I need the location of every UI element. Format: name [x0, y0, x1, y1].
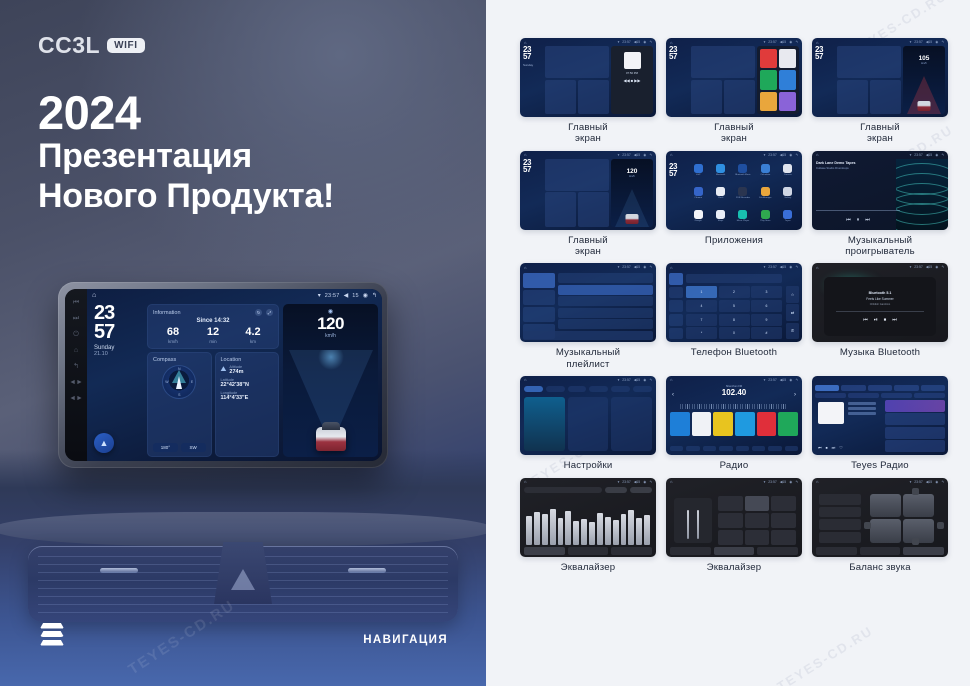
- thumb-clock-minutes: 57: [669, 53, 689, 60]
- thumbnail-caption: Настройки: [564, 460, 613, 472]
- home-icon[interactable]: ⌂: [92, 292, 96, 299]
- thumbnail-caption: Эквалайзер: [707, 562, 762, 574]
- clock-minutes: 57: [91, 323, 143, 342]
- thumb-car-icon: [918, 101, 931, 111]
- album-art: [818, 402, 844, 424]
- compass-needle-icon: [176, 376, 182, 389]
- dial-key[interactable]: 7: [686, 314, 717, 326]
- thumb-clock: 23 57: [523, 159, 543, 227]
- caption-line-1: Баланс звука: [849, 562, 911, 573]
- volume-level: 15: [352, 293, 359, 299]
- power-key[interactable]: ⏻: [73, 331, 79, 338]
- app-label: Maps: [718, 220, 723, 222]
- equalizer-header[interactable]: [524, 487, 652, 494]
- speed-widget[interactable]: ◉ 120 km/h: [283, 304, 378, 457]
- thumbnail-grid: ⌂▾23:57◀15◉↰ 23 57 Sunday 07:50 PM ◀◀: [520, 38, 948, 574]
- grid-cell-home-speed-120[interactable]: ⌂▾23:57◀15◉↰ 23 57 120 km/h: [520, 151, 656, 258]
- thumb-content: 23 57 Sunday 07:50 PM ◀◀ ■ ▶▶: [523, 46, 653, 114]
- thumb-widgets: [691, 46, 755, 114]
- compass-west: W: [165, 380, 168, 384]
- playback-controls[interactable]: ⏮ ⏸ ⏭: [816, 217, 900, 223]
- app-item[interactable]: Clock: [710, 183, 730, 204]
- radio-toolbar[interactable]: [670, 446, 798, 453]
- radio-presets[interactable]: [670, 412, 798, 436]
- caption-line-1: Эквалайзер: [707, 562, 762, 573]
- screenshot-grid-panel: TEYES-CD.RU TEYES-CD.RU TEYES-CD.RU TEYE…: [486, 0, 970, 686]
- caption-line-1: Главный: [568, 235, 608, 246]
- layers-icon: [40, 623, 64, 649]
- status-bar: ⌂ ▾ 23:57 ◀ 15 ◉ ↰: [87, 289, 382, 302]
- caption-line-2: экран: [860, 133, 900, 144]
- track-artist: Cubase Studio Drumloops: [816, 166, 900, 170]
- thumb-widget-row: [545, 80, 609, 114]
- teyes-radio-filters[interactable]: [815, 393, 945, 398]
- dial-key[interactable]: 8: [719, 314, 750, 326]
- thumb-status-bar: ⌂▾23:57◀15◉↰: [666, 151, 802, 159]
- playlist-player-bar[interactable]: [523, 331, 653, 340]
- stat-distance-unit: km: [233, 339, 273, 344]
- stat-distance: 4.2 km: [233, 327, 273, 344]
- dial-key[interactable]: *: [686, 327, 717, 339]
- road-visual: [283, 350, 378, 457]
- navigation-arrow-icon[interactable]: ▲: [94, 433, 114, 453]
- latitude-block: Latitude 22°42'38"N: [221, 378, 274, 388]
- caption-line-2: экран: [714, 133, 754, 144]
- caption-line-1: Музыка Bluetooth: [840, 347, 920, 358]
- now-playing: Dark Lane Demo Tapes Cubase Studio Druml…: [816, 161, 900, 226]
- playlist-items[interactable]: [558, 273, 653, 329]
- grid-cell-eq-sliders[interactable]: ⌂▾23:57◀15◉↰ Эквалайзер: [520, 478, 656, 574]
- hero-panel: CC3L WIFI 2024 Презентация Нового Продук…: [0, 0, 486, 686]
- next-track-key[interactable]: ⏭: [73, 315, 79, 322]
- app-item[interactable]: Teyes: [778, 206, 798, 227]
- thumb-content: 23 57: [669, 46, 799, 114]
- grid-cell-home-speed-105[interactable]: ⌂▾23:57◀15◉↰ 23 57 105 km/h: [812, 38, 948, 145]
- gear-icon[interactable]: ◉: [363, 292, 368, 299]
- bass-treble-sliders[interactable]: [674, 498, 712, 543]
- fader-down-icon[interactable]: [912, 538, 919, 545]
- thumb-status-bar: ⌂▾23:57◀15◉↰: [520, 38, 656, 46]
- equalizer-tabs[interactable]: [524, 547, 652, 555]
- thumbnail-apps[interactable]: ⌂▾23:57◀15◉↰ 23 57 VoIP Bluetooth Blueto…: [666, 151, 802, 230]
- thumbnail-caption: Teyes Радио: [851, 460, 909, 472]
- thumb-status-bar: ⌂▾23:57◀15◉↰: [520, 478, 656, 486]
- hazard-light-button[interactable]: [214, 542, 272, 604]
- thumbnail-equalizer-presets[interactable]: ⌂▾23:57◀15◉↰: [666, 478, 802, 557]
- transfer-icon[interactable]: ⇄: [786, 304, 799, 321]
- app-item[interactable]: FileManager: [755, 183, 775, 204]
- grid-cell-eq-presets[interactable]: ⌂▾23:57◀15◉↰ Эквалайзер: [666, 478, 802, 574]
- volume-down-key[interactable]: ◄►: [69, 379, 83, 386]
- page-title: 2024 Презентация Нового Продукта!: [38, 88, 334, 216]
- thumbnail-caption: Главный экран: [568, 122, 608, 145]
- altitude-block: Altitude 274m: [229, 365, 243, 375]
- balance-tabs[interactable]: [816, 547, 944, 555]
- dial-key[interactable]: 4: [686, 300, 717, 312]
- thumb-status-bar: ⌂▾23:57◀15◉↰: [520, 376, 656, 384]
- app-item[interactable]: DVR Recorder: [733, 183, 753, 204]
- app-label: Gallery: [784, 197, 791, 199]
- phone-sidebar[interactable]: [669, 273, 683, 339]
- thumbnail-equalizer-sliders[interactable]: ⌂▾23:57◀15◉↰: [520, 478, 656, 557]
- thumb-clock-minutes: 57: [523, 166, 543, 173]
- hero-title-line2: Нового Продукта!: [38, 177, 334, 216]
- altitude-row: ⛰ Altitude 274m: [221, 365, 274, 375]
- app-grid[interactable]: VoIP Bluetooth Bluetooth Music Calculato…: [688, 160, 798, 227]
- phone-actions[interactable]: ☆ ⇄ ✆: [786, 286, 799, 339]
- thumb-clock: 23 57: [815, 46, 835, 114]
- dial-key[interactable]: 2: [719, 286, 750, 298]
- caption-line-1: Музыкальный: [845, 235, 915, 246]
- bt-track-artist: Childish Gambino: [870, 303, 890, 306]
- dial-key[interactable]: 3: [751, 286, 782, 298]
- thumb-status-bar: ⌂▾23:57◀15◉↰: [520, 263, 656, 271]
- next-icon[interactable]: ⏭: [832, 445, 836, 450]
- longitude-block: Longitude 114°4'33"E: [221, 391, 274, 401]
- trip-stats: 68 km/h 12 min 4.2 km: [153, 327, 273, 344]
- grid-cell-teyes-radio[interactable]: ⏮ ⏹ ⏭ ♡ Teyes Радио: [812, 376, 948, 472]
- product-logo: CC3L WIFI: [38, 32, 145, 59]
- thumbnail-caption: Приложения: [705, 235, 763, 247]
- side-key-strip[interactable]: ⏮ ⏭ ⏻ ⌂ ↰ ◄► ◄►: [65, 289, 87, 461]
- thumb-clock-minutes: 57: [523, 53, 543, 60]
- thumbnail-home-speed-105[interactable]: ⌂▾23:57◀15◉↰ 23 57 105 km/h: [812, 38, 948, 117]
- thumbnail-caption: Главный экран: [714, 122, 754, 145]
- thumb-speed-card: 105 km/h: [903, 46, 945, 114]
- thumbnail-playlist[interactable]: ⌂▾23:57◀15◉↰: [520, 263, 656, 342]
- lower-widgets: Compass N S W E: [147, 352, 279, 457]
- home-key[interactable]: ⌂: [74, 347, 78, 354]
- latitude-value: 22°42'38"N: [221, 382, 274, 388]
- thumb-speed-value: 105: [903, 55, 945, 62]
- thumb-status-bar: ⌂▾23:57◀15◉↰: [812, 478, 948, 486]
- call-icon[interactable]: ✆: [786, 323, 799, 340]
- speed-value: 120: [283, 315, 378, 332]
- app-label: Calculator: [760, 174, 770, 176]
- app-item[interactable]: Bluetooth: [710, 160, 730, 181]
- status-time: 23:57: [325, 293, 340, 299]
- previous-icon[interactable]: ⏮: [818, 445, 822, 450]
- expand-icon[interactable]: ⤢: [266, 309, 273, 316]
- head-unit-inner: ⏮ ⏭ ⏻ ⌂ ↰ ◄► ◄► ⌂ ▾ 23:57 ◀ 15: [65, 289, 382, 461]
- thumb-media-card: 07:50 PM ◀◀ ■ ▶▶: [611, 46, 653, 114]
- app-label: Teyes: [785, 220, 791, 222]
- grid-cell-home-media[interactable]: ⌂▾23:57◀15◉↰ 23 57 Sunday 07:50 PM ◀◀: [520, 38, 656, 145]
- settings-cards[interactable]: [524, 397, 652, 451]
- thumb-widgets: [545, 159, 609, 227]
- app-label: Music Player: [737, 220, 750, 222]
- thumb-car-icon: [626, 214, 639, 224]
- stat-distance-value: 4.2: [233, 327, 273, 338]
- caption-line-1: Эквалайзер: [561, 562, 616, 573]
- preset-buttons[interactable]: [718, 496, 796, 545]
- app-label: FileManager: [759, 197, 771, 199]
- radio-frequency: 102.40: [666, 388, 802, 397]
- thumbnail-radio[interactable]: ⌂▾23:57◀15◉↰ Shenzhen FM 102.40 ‹ ›: [666, 376, 802, 455]
- thumb-status-bar: ⌂▾23:57◀15◉↰: [666, 263, 802, 271]
- bt-device-name: Bluetooth 5.1: [869, 291, 892, 295]
- pause-icon[interactable]: ⏸: [857, 217, 860, 223]
- information-title: Information: [153, 310, 181, 316]
- fader-up-icon[interactable]: [912, 488, 919, 495]
- caption-line-1: Телефон Bluetooth: [691, 347, 777, 358]
- compass-title: Compass: [153, 357, 206, 363]
- thumb-clock: 23 57: [669, 46, 689, 114]
- thumb-speed-unit: km/h: [611, 175, 653, 178]
- track-title: Dark Lane Demo Tapes: [816, 161, 900, 165]
- station-list[interactable]: [885, 400, 945, 452]
- station-meta: [848, 402, 876, 415]
- thumb-speed-card: 120 km/h: [611, 159, 653, 227]
- grid-cell-radio[interactable]: ⌂▾23:57◀15◉↰ Shenzhen FM 102.40 ‹ › Ради…: [666, 376, 802, 472]
- app-label: VoIP: [696, 174, 701, 176]
- thumbnail-teyes-radio[interactable]: ⏮ ⏹ ⏭ ♡: [812, 376, 948, 455]
- balance-presets[interactable]: [819, 494, 861, 543]
- volume-icon: ◀: [344, 292, 349, 299]
- vent-slot-left: [100, 568, 138, 573]
- dial-key[interactable]: 9: [751, 314, 782, 326]
- watermark: TEYES-CD.RU: [774, 623, 875, 686]
- next-icon[interactable]: ⏭: [892, 317, 897, 323]
- balance-right-icon[interactable]: [937, 522, 944, 529]
- next-icon[interactable]: ⏭: [865, 217, 870, 223]
- navigation-label: НАВИГАЦИЯ: [363, 634, 448, 646]
- clock-widget: 23 57 Sunday 21.10 ▲: [91, 304, 143, 457]
- dial-key[interactable]: 1: [686, 286, 717, 298]
- caption-line-2: экран: [568, 246, 608, 257]
- compass-card[interactable]: Compass N S W E: [147, 352, 212, 457]
- thumb-status-bar: ⌂▾23:57◀15◉↰: [812, 38, 948, 46]
- app-item[interactable]: Camera: [778, 160, 798, 181]
- app-item[interactable]: Google: [688, 206, 708, 227]
- information-header: Information ↻ ⤢: [153, 309, 273, 316]
- information-actions[interactable]: ↻ ⤢: [255, 309, 273, 316]
- caption-line-1: Музыкальный: [556, 347, 620, 358]
- thumbnail-home-media[interactable]: ⌂▾23:57◀15◉↰ 23 57 Sunday 07:50 PM ◀◀: [520, 38, 656, 117]
- caption-line-2: проигрыватель: [845, 246, 915, 257]
- bt-progress-bar[interactable]: [836, 311, 923, 312]
- thumb-clock-sub: Sunday: [523, 63, 543, 67]
- back-icon[interactable]: ↰: [372, 292, 377, 299]
- vent-slot-right: [348, 568, 386, 573]
- compass-direction: SW: [181, 443, 206, 452]
- altitude-value: 274m: [229, 369, 243, 375]
- hazard-triangle-icon: [231, 569, 255, 590]
- frequency-scale[interactable]: [680, 404, 788, 409]
- app-label: Google: [695, 220, 702, 222]
- app-label: Bluetooth Music: [735, 174, 751, 176]
- thumb-status-bar: ⌂▾23:57◀15◉↰: [666, 478, 802, 486]
- widget-column: Information ↻ ⤢ Since 14:32 68: [147, 304, 279, 457]
- grid-cell-apps[interactable]: ⌂▾23:57◀15◉↰ 23 57 VoIP Bluetooth Blueto…: [666, 151, 802, 258]
- stat-duration-unit: min: [193, 339, 233, 344]
- stop-icon[interactable]: ⏹: [826, 445, 828, 450]
- thumb-widgets: [837, 46, 901, 114]
- car-3d-model: [316, 427, 346, 451]
- caption-line-2: экран: [568, 133, 608, 144]
- thumb-speed-unit: km/h: [903, 62, 945, 65]
- thumbnail-music-player[interactable]: ⌂▾23:57◀15◉↰ Dark Lane Demo Tapes Cubase…: [812, 151, 948, 230]
- prev-station-icon[interactable]: ‹: [672, 392, 674, 398]
- screen-body: 23 57 Sunday 21.10 ▲ Information: [87, 302, 382, 461]
- stat-speed-unit: km/h: [153, 339, 193, 344]
- thumb-speed-value: 120: [611, 168, 653, 175]
- caption-line-1: Главный: [568, 122, 608, 133]
- grid-cell-bt-music[interactable]: ⌂▾23:57◀15◉↰ Bluetooth 5.1 Feels Like Su…: [812, 263, 948, 370]
- back-key[interactable]: ↰: [73, 363, 79, 370]
- star-icon[interactable]: ☆: [786, 286, 799, 303]
- play-pause-icon[interactable]: ⏯: [874, 317, 878, 323]
- thumb-app-column: [757, 46, 799, 114]
- compass-dial: N S W E: [162, 365, 196, 399]
- prev-track-key[interactable]: ⏮: [73, 299, 79, 306]
- stat-speed-value: 68: [153, 327, 193, 338]
- caption-line-1: Главный: [860, 122, 900, 133]
- bt-track-title: Feels Like Summer: [866, 297, 893, 301]
- head-unit-screen: ⌂ ▾ 23:57 ◀ 15 ◉ ↰ 23 57 Sunday: [87, 289, 382, 461]
- bt-controls[interactable]: ⏮ ⏯ ⏹ ⏭: [863, 317, 897, 323]
- app-label: Chrome: [694, 197, 702, 199]
- clock-date: 21.10: [91, 351, 143, 357]
- equalizer-tabs[interactable]: [670, 547, 798, 555]
- app-label: Clock: [718, 197, 723, 199]
- head-unit-bezel: ⏮ ⏭ ⏻ ⌂ ↰ ◄► ◄► ⌂ ▾ 23:57 ◀ 15: [58, 282, 388, 468]
- thumbnail-home-speed-120[interactable]: ⌂▾23:57◀15◉↰ 23 57 120 km/h: [520, 151, 656, 230]
- thumb-clock: 23 57 Sunday: [523, 46, 543, 114]
- thumb-info-card: [545, 46, 609, 78]
- app-item[interactable]: Calculator: [755, 160, 775, 181]
- thumbnail-caption: Телефон Bluetooth: [691, 347, 777, 359]
- compass-degrees: 180°: [153, 443, 178, 452]
- app-label: Play Store: [760, 220, 770, 222]
- thumb-content: 23 57 120 km/h: [523, 159, 653, 227]
- grid-cell-balance[interactable]: ⌂▾23:57◀15◉↰ Баланс звука: [812, 478, 948, 574]
- stat-speed: 68 km/h: [153, 327, 193, 344]
- settings-tabs[interactable]: [524, 386, 652, 393]
- teyes-radio-tabs[interactable]: [815, 385, 945, 391]
- thumbnail-home-apps[interactable]: ⌂▾23:57◀15◉↰ 23 57: [666, 38, 802, 117]
- wifi-icon: ▾: [318, 292, 321, 299]
- app-item[interactable]: Maps: [710, 206, 730, 227]
- thumbnail-caption: Музыка Bluetooth: [840, 347, 920, 359]
- thumb-clock-minutes: 57: [669, 170, 677, 177]
- thumb-status-bar: ⌂▾23:57◀15◉↰: [666, 38, 802, 46]
- balance-left-icon[interactable]: [864, 522, 871, 529]
- app-item[interactable]: VoIP: [688, 160, 708, 181]
- grid-cell-music-player[interactable]: ⌂▾23:57◀15◉↰ Dark Lane Demo Tapes Cubase…: [812, 151, 948, 258]
- volume-up-key[interactable]: ◄►: [69, 395, 83, 402]
- dial-key[interactable]: 6: [751, 300, 782, 312]
- thumb-widgets: [545, 46, 609, 114]
- hero-title-line1: Презентация: [38, 137, 334, 176]
- phone-number-field[interactable]: [686, 274, 782, 283]
- trip-since: Since 14:32: [153, 318, 273, 324]
- grid-cell-dialpad[interactable]: ⌂▾23:57◀15◉↰ 1 2 3 4 5 6 7 8 9 * 0 #: [666, 263, 802, 370]
- thumb-status-bar: ⌂▾23:57◀15◉↰: [520, 151, 656, 159]
- thumbnail-sound-balance[interactable]: ⌂▾23:57◀15◉↰: [812, 478, 948, 557]
- stat-duration-value: 12: [193, 327, 233, 338]
- dial-key[interactable]: 0: [719, 327, 750, 339]
- music-visualizer: [896, 159, 948, 230]
- progress-bar[interactable]: [816, 210, 900, 211]
- caption-line-1: Teyes Радио: [851, 460, 909, 471]
- previous-icon[interactable]: ⏮: [863, 317, 868, 323]
- speed-unit: km/h: [283, 333, 378, 339]
- caption-line-1: Радио: [720, 460, 749, 471]
- mountain-icon: ⛰: [221, 366, 227, 374]
- thumb-clock-minutes: 57: [815, 53, 835, 60]
- location-title: Location: [221, 357, 274, 363]
- previous-icon[interactable]: ⏮: [846, 217, 851, 223]
- app-label: Bluetooth: [716, 174, 725, 176]
- wifi-badge: WIFI: [107, 38, 145, 53]
- thumb-status-bar: ⌂▾23:57◀15◉↰: [812, 151, 948, 159]
- equalizer-bands[interactable]: [526, 498, 650, 545]
- car-dashboard: [0, 450, 486, 686]
- thumbnail-caption: Радио: [720, 460, 749, 472]
- grid-cell-playlist[interactable]: ⌂▾23:57◀15◉↰ Музыкальный плейлист: [520, 263, 656, 370]
- compass-readout: 180° SW: [153, 443, 206, 452]
- thumbnail-bluetooth-phone[interactable]: ⌂▾23:57◀15◉↰ 1 2 3 4 5 6 7 8 9 * 0 #: [666, 263, 802, 342]
- refresh-icon[interactable]: ↻: [255, 309, 262, 316]
- thumbnail-settings[interactable]: ⌂▾23:57◀15◉↰: [520, 376, 656, 455]
- compass-east: E: [191, 380, 193, 384]
- stop-icon[interactable]: ⏹: [884, 317, 887, 323]
- caption-line-1: Приложения: [705, 235, 763, 246]
- thumbnail-caption: Баланс звука: [849, 562, 911, 574]
- app-item[interactable]: Music Player: [733, 206, 753, 227]
- longitude-value: 114°4'33"E: [221, 395, 274, 401]
- next-station-icon[interactable]: ›: [794, 392, 796, 398]
- app-item[interactable]: Play Store: [755, 206, 775, 227]
- dialpad-keys[interactable]: 1 2 3 4 5 6 7 8 9 * 0 #: [686, 286, 782, 339]
- compass-north: N: [178, 367, 181, 371]
- favorite-icon[interactable]: ♡: [839, 445, 843, 450]
- app-label: DVR Recorder: [736, 197, 750, 199]
- grid-cell-home-apps[interactable]: ⌂▾23:57◀15◉↰ 23 57: [666, 38, 802, 145]
- thumbnail-caption: Музыкальный проигрыватель: [845, 235, 915, 258]
- thumbnail-caption: Музыкальный плейлист: [556, 347, 620, 370]
- thumbnail-bluetooth-music[interactable]: ⌂▾23:57◀15◉↰ Bluetooth 5.1 Feels Like Su…: [812, 263, 948, 342]
- compass-south: S: [178, 393, 180, 397]
- playlist-sidebar[interactable]: [523, 273, 555, 339]
- head-unit: ⏮ ⏭ ⏻ ⌂ ↰ ◄► ◄► ⌂ ▾ 23:57 ◀ 15: [58, 282, 388, 468]
- teyes-radio-controls[interactable]: ⏮ ⏹ ⏭ ♡: [818, 445, 843, 450]
- dashboard-shelf: [0, 512, 486, 546]
- app-label: Camera: [784, 174, 792, 176]
- dial-key[interactable]: #: [751, 327, 782, 339]
- thumbnail-caption: Главный экран: [568, 235, 608, 258]
- balance-fader-pad[interactable]: [870, 494, 934, 543]
- road-glow: [318, 350, 344, 370]
- bt-music-card: Bluetooth 5.1 Feels Like Summer Childish…: [824, 277, 936, 336]
- information-card[interactable]: Information ↻ ⤢ Since 14:32 68: [147, 304, 279, 349]
- hero-year: 2024: [38, 88, 334, 137]
- caption-line-1: Главный: [714, 122, 754, 133]
- app-item[interactable]: Chrome: [688, 183, 708, 204]
- caption-line-1: Настройки: [564, 460, 613, 471]
- location-card[interactable]: Location ⛰ Altitude 274m: [215, 352, 280, 457]
- app-item[interactable]: Gallery: [778, 183, 798, 204]
- thumb-content: 23 57 105 km/h: [815, 46, 945, 114]
- thumb-status-bar: ⌂▾23:57◀15◉↰: [812, 263, 948, 271]
- app-item[interactable]: Bluetooth Music: [733, 160, 753, 181]
- thumbnail-caption: Эквалайзер: [561, 562, 616, 574]
- thumb-status-bar: ⌂▾23:57◀15◉↰: [666, 376, 802, 384]
- dial-key[interactable]: 5: [719, 300, 750, 312]
- caption-line-2: плейлист: [556, 359, 620, 370]
- grid-cell-settings[interactable]: ⌂▾23:57◀15◉↰ Настройки: [520, 376, 656, 472]
